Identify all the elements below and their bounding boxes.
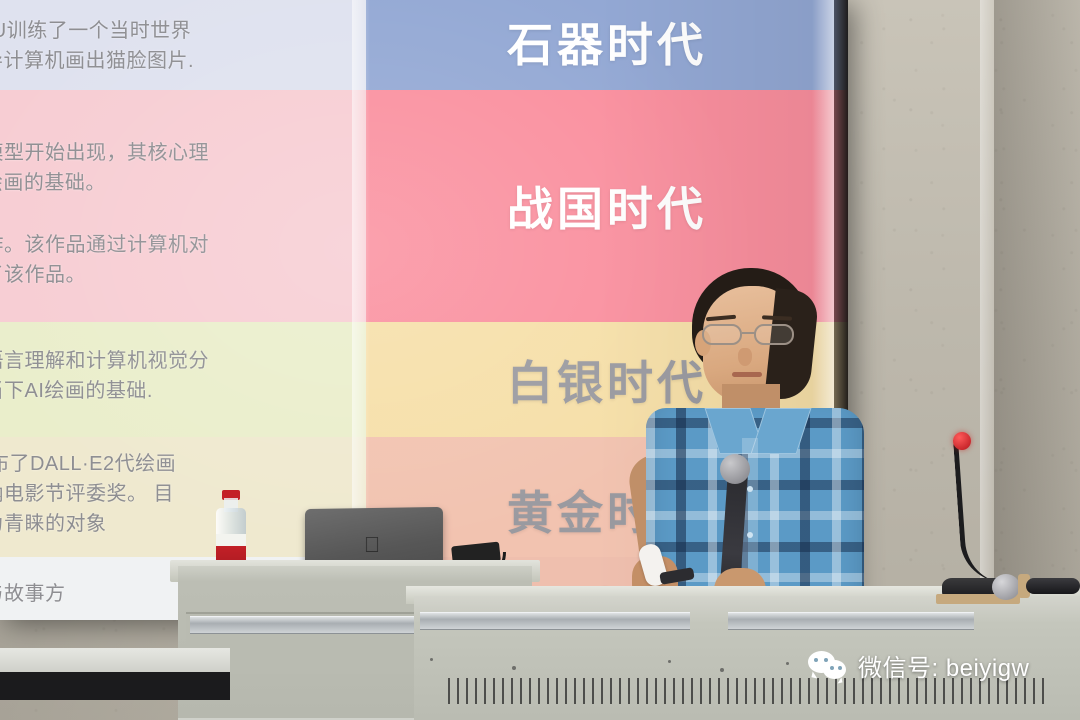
wechat-bubble-small <box>823 660 846 679</box>
handheld-mic-body <box>1026 578 1080 594</box>
slide-text: 行自然语言理解和计算机视觉分 <box>0 346 209 376</box>
slide-text-line: 成的画作。该作品通过计算机对 析完成了该作品。 <box>0 230 209 290</box>
slide-text-line: 万个CPU训练了一个当时世界 来指导计算机画出猫脸图片. <box>0 16 194 76</box>
wechat-dot <box>830 666 834 670</box>
wechat-dot <box>814 658 818 662</box>
wechat-icon <box>808 651 848 681</box>
slide-text-line: 度学习模型开始出现，其核心理 成为AI绘画的基础。 <box>0 138 209 198</box>
watermark-text: 微信号: beiyigw <box>858 648 1029 683</box>
slide-text: 万个CPU训练了一个当时世界 <box>0 16 194 46</box>
handheld-mic-head-icon <box>992 574 1020 600</box>
podium-speck <box>430 658 433 661</box>
slide-band-title: 石器时代 <box>507 9 707 75</box>
slide-text: 成的画作。该作品通过计算机对 <box>0 230 209 260</box>
shirt-button <box>747 486 753 492</box>
presenter-nose <box>738 348 752 366</box>
podium-speck <box>786 662 789 665</box>
slide-text: 度学习模型开始出现，其核心理 <box>0 138 209 168</box>
microphone-head-icon <box>720 454 750 484</box>
stage-riser-front <box>0 672 230 700</box>
wechat-dot <box>838 666 842 670</box>
slide-text: 成为了当下AI绘画的基础. <box>0 376 209 406</box>
slide-band-text-column: 万个CPU训练了一个当时世界 来指导计算机画出猫脸图片. <box>0 0 366 90</box>
wall-panel-shadow <box>994 0 1080 612</box>
eyeglass-lens-left <box>702 324 742 345</box>
slide-text-line: 行自然语言理解和计算机视觉分 成为了当下AI绘画的基础. <box>0 346 209 406</box>
watermark: 微信号: beiyigw <box>808 648 1029 683</box>
microphone-indicator-icon <box>953 432 971 450</box>
slide-text: 型，成为青睐的对象 <box>0 509 176 539</box>
podium-speck <box>668 660 671 663</box>
slide-text: 来指导计算机画出猫脸图片. <box>0 46 194 76</box>
podium-speck <box>720 668 724 672</box>
wechat-dot <box>824 658 828 662</box>
slide-band-title-column: 石器时代 <box>366 0 848 90</box>
slide-text: 析完成了该作品。 <box>0 260 209 290</box>
slide-text-line: AI 也发布了DALL·E2代绘画 获得戛纳电影节评委奖。 目 型，成为青睐的对… <box>0 449 176 539</box>
shirt-button <box>747 532 753 538</box>
presenter-mouth <box>732 372 762 377</box>
slide-band-title: 战国时代 <box>507 173 707 239</box>
slide-text: 获得戛纳电影节评委奖。 目 <box>0 479 176 509</box>
slide-band-stone-age: 万个CPU训练了一个当时世界 来指导计算机画出猫脸图片. 石器时代 <box>0 0 848 90</box>
slide-text: AI 也发布了DALL·E2代绘画 <box>0 449 176 479</box>
photo-canvas: 万个CPU训练了一个当时世界 来指导计算机画出猫脸图片. 石器时代 度学习模型开… <box>0 0 1080 720</box>
drawer-rail <box>420 612 690 630</box>
eyeglass-lens-right <box>754 324 794 345</box>
slide-text-line: 据剧本与故事方 <box>0 579 66 609</box>
slide-text: 成为AI绘画的基础。 <box>0 168 209 198</box>
eyeglass-bridge <box>742 332 756 334</box>
slide-text: 据剧本与故事方 <box>0 579 66 609</box>
podium-speck <box>512 666 516 670</box>
apple-logo-icon:  <box>362 534 382 556</box>
slide-band-text-column: 行自然语言理解和计算机视觉分 成为了当下AI绘画的基础. <box>0 322 366 437</box>
drawer-rail <box>728 612 974 630</box>
slide-band-text-column: 度学习模型开始出现，其核心理 成为AI绘画的基础。 成的画作。该作品通过计算机对… <box>0 90 366 322</box>
eyeglasses-icon <box>700 324 804 346</box>
